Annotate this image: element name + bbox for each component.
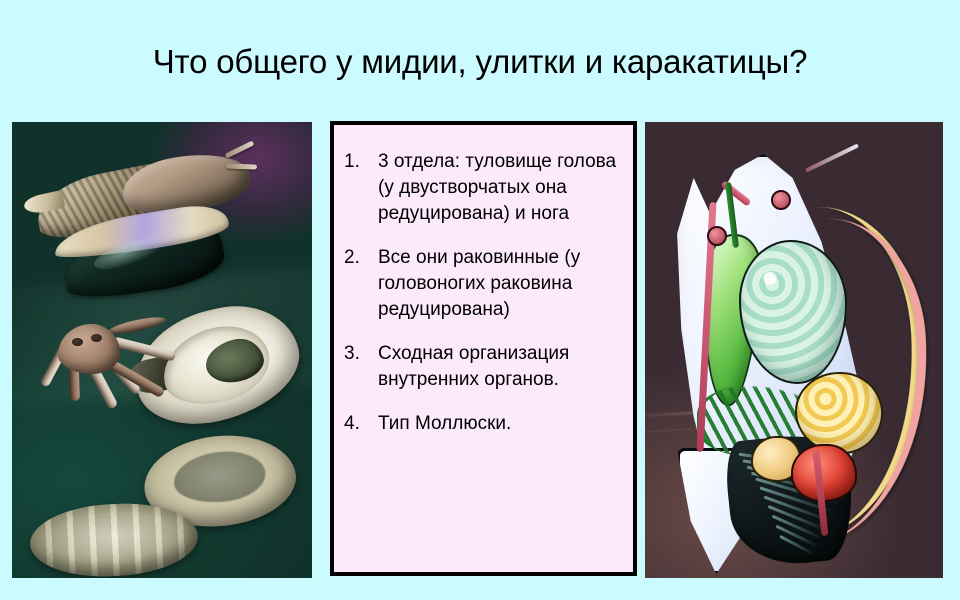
list-item: 4. Тип Моллюски. [342, 411, 625, 437]
list-item: 2. Все они раковинные (у головоногих рак… [342, 245, 625, 323]
facts-textbox: 1. 3 отдела: туловище голова (у двуствор… [330, 121, 637, 576]
left-photo-panel [12, 122, 312, 578]
facts-list: 1. 3 отдела: туловище голова (у двуствор… [334, 125, 633, 437]
octopus-eye-icon [72, 338, 83, 346]
siphon-icon [805, 143, 859, 172]
mollusc-anatomy-diagram [667, 148, 923, 554]
octopus-illustration [40, 318, 190, 458]
list-item-label: Все они раковинные (у головоногих ракови… [378, 245, 625, 323]
octopus-arm-icon [107, 314, 166, 337]
ganglion-icon [771, 190, 791, 210]
octopus-eye-icon [91, 334, 102, 342]
octopus-arm-icon [112, 336, 177, 361]
list-item-label: 3 отдела: туловище голова (у двустворчат… [378, 149, 625, 227]
octopus-head-icon [58, 324, 120, 374]
ganglion-icon [707, 226, 727, 246]
list-item-number: 4. [342, 411, 378, 437]
list-item-label: Сходная организация внутренних органов. [378, 341, 625, 393]
list-item: 1. 3 отдела: туловище голова (у двуствор… [342, 149, 625, 227]
snail-tentacle-icon [224, 140, 254, 158]
list-item-label: Тип Моллюски. [378, 411, 625, 437]
slide-root: Что общего у мидии, улитки и каракатицы? [0, 0, 960, 600]
list-item: 3. Сходная организация внутренних органо… [342, 341, 625, 393]
page-title: Что общего у мидии, улитки и каракатицы? [0, 42, 960, 82]
right-anatomy-panel [645, 122, 943, 578]
snail-tentacle-icon [226, 163, 257, 169]
chiton-illustration [28, 500, 200, 578]
liver-icon [795, 372, 883, 454]
list-item-number: 3. [342, 341, 378, 367]
list-item-number: 2. [342, 245, 378, 271]
list-item-number: 1. [342, 149, 378, 175]
